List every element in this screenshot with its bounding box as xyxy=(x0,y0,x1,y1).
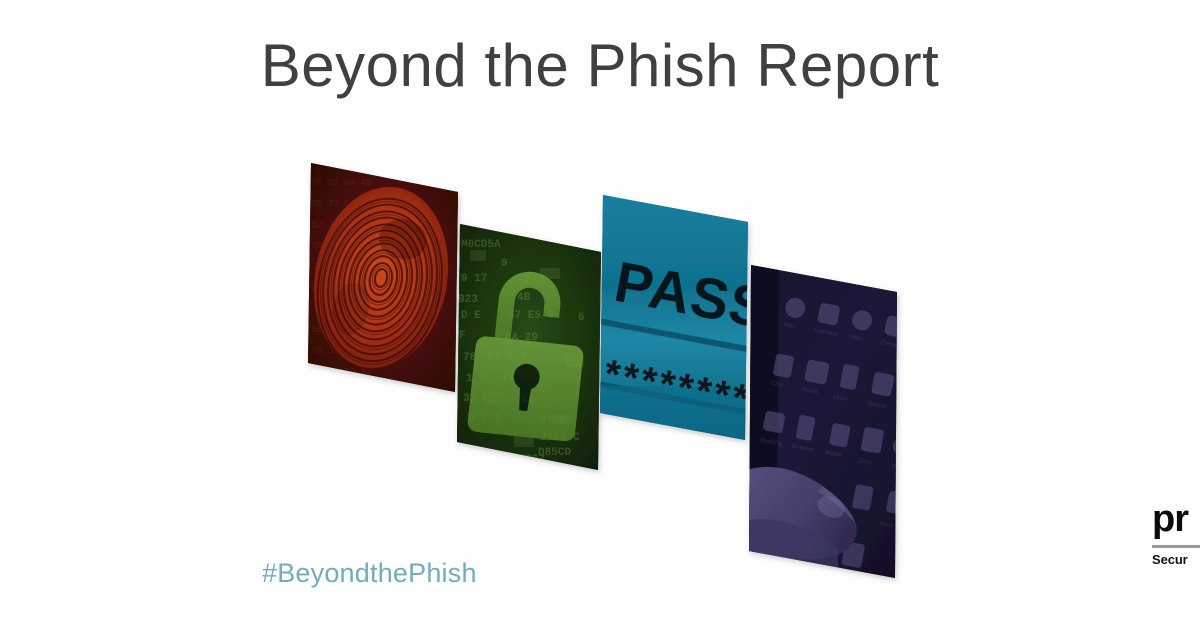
svg-text:B23: B23 xyxy=(458,294,478,306)
svg-text:your passw: your passw xyxy=(599,410,740,463)
svg-text:3A 29: 3A 29 xyxy=(505,332,538,344)
svg-text:07 8 0: 07 8 0 xyxy=(487,351,527,363)
svg-text:M0CD5A: M0CD5A xyxy=(461,239,501,251)
svg-text:6: 6 xyxy=(578,312,585,324)
svg-text:4B: 4B xyxy=(517,292,531,304)
svg-text:Banking: Banking xyxy=(760,438,782,448)
svg-text:7A 13 6B 2F: 7A 13 6B 2F xyxy=(312,262,371,272)
svg-text:72 7 1: 72 7 1 xyxy=(502,372,542,384)
logo-tagline: Secur xyxy=(1152,553,1200,566)
svg-text:Notes: Notes xyxy=(802,387,819,396)
svg-text:Calendar: Calendar xyxy=(813,328,838,338)
svg-text:Photos: Photos xyxy=(891,464,910,473)
panel-phone-touch: Mail Calendar Maps Camera Files Chat Not… xyxy=(741,258,942,586)
svg-text:9 17: 9 17 xyxy=(461,273,487,285)
svg-text:Settings: Settings xyxy=(902,407,924,417)
svg-text:PASSW: PASSW xyxy=(610,250,828,352)
slide-canvas: 9F C2 0A 4B 3D 77 E1 09 B2 3C 58 D1 0E 4… xyxy=(0,0,1200,630)
svg-text:**********: ********** xyxy=(600,352,791,429)
svg-text:0: 0 xyxy=(563,352,570,364)
panel-password: PASSW ********** your passw xyxy=(595,188,828,463)
svg-text:Files: Files xyxy=(911,348,925,356)
svg-text:Store: Store xyxy=(879,521,895,530)
svg-text:Camera: Camera xyxy=(880,340,903,350)
svg-text:1 7: 1 7 xyxy=(466,373,486,385)
svg-text:Maps: Maps xyxy=(848,334,864,343)
svg-text:3D 77 E1 09: 3D 77 E1 09 xyxy=(312,199,371,209)
svg-text:A6 71 CD 53: A6 71 CD 53 xyxy=(312,367,371,377)
svg-text:Wallet: Wallet xyxy=(825,450,843,459)
panel-fingerprint: 9F C2 0A 4B 3D 77 E1 09 B2 3C 58 D1 0E 4… xyxy=(299,155,470,405)
svg-text:9: 9 xyxy=(501,258,508,270)
svg-text:2: 2 xyxy=(523,274,530,286)
svg-text:Secure: Secure xyxy=(866,401,886,410)
svg-text:67 F0: 67 F0 xyxy=(540,415,573,427)
svg-text:67 E5 6: 67 E5 6 xyxy=(508,310,554,322)
page-title: Beyond the Phish Report xyxy=(0,30,1200,102)
svg-text:F: F xyxy=(459,330,466,342)
svg-text:Docs: Docs xyxy=(858,458,873,466)
svg-text:CD4C: CD4C xyxy=(500,460,527,472)
svg-text:C4 8E 05 D3: C4 8E 05 D3 xyxy=(312,283,371,293)
svg-text:9 7 0: 9 7 0 xyxy=(468,413,501,425)
svg-text:78: 78 xyxy=(463,352,477,364)
svg-text:19 F0 B7 4C: 19 F0 B7 4C xyxy=(312,304,372,314)
svg-text:Chat: Chat xyxy=(770,381,784,389)
svg-text:Drive: Drive xyxy=(833,394,849,403)
svg-text:Browser: Browser xyxy=(791,444,814,454)
svg-text:D85CD: D85CD xyxy=(538,447,571,459)
svg-text:B2 3C 58 D1: B2 3C 58 D1 xyxy=(312,220,371,230)
logo-divider xyxy=(1152,545,1200,548)
svg-text:5D 62 1A E8: 5D 62 1A E8 xyxy=(312,325,371,335)
svg-text:9F C2 0A 4B: 9F C2 0A 4B xyxy=(312,178,372,188)
svg-text:78F67: 78F67 xyxy=(512,454,545,466)
svg-text:Mail: Mail xyxy=(783,322,795,330)
svg-text:32: 32 xyxy=(463,393,476,405)
hashtag-label: #BeyondthePhish xyxy=(262,558,477,589)
logo-wordmark: pr xyxy=(1152,500,1200,538)
svg-text:29A0 C: 29A0 C xyxy=(540,432,580,444)
brand-logo: pr Secur xyxy=(1152,500,1200,566)
panel-padlock: M0CD5A 9 9 17 2 B23 4B D E 67 E5 6 6 F 3… xyxy=(450,215,615,480)
svg-text:34: 34 xyxy=(520,395,534,407)
svg-text:8B 3F 90 27: 8B 3F 90 27 xyxy=(312,346,371,356)
svg-text:0E 44 A9 67: 0E 44 A9 67 xyxy=(312,241,371,251)
svg-text:D E: D E xyxy=(461,310,481,322)
